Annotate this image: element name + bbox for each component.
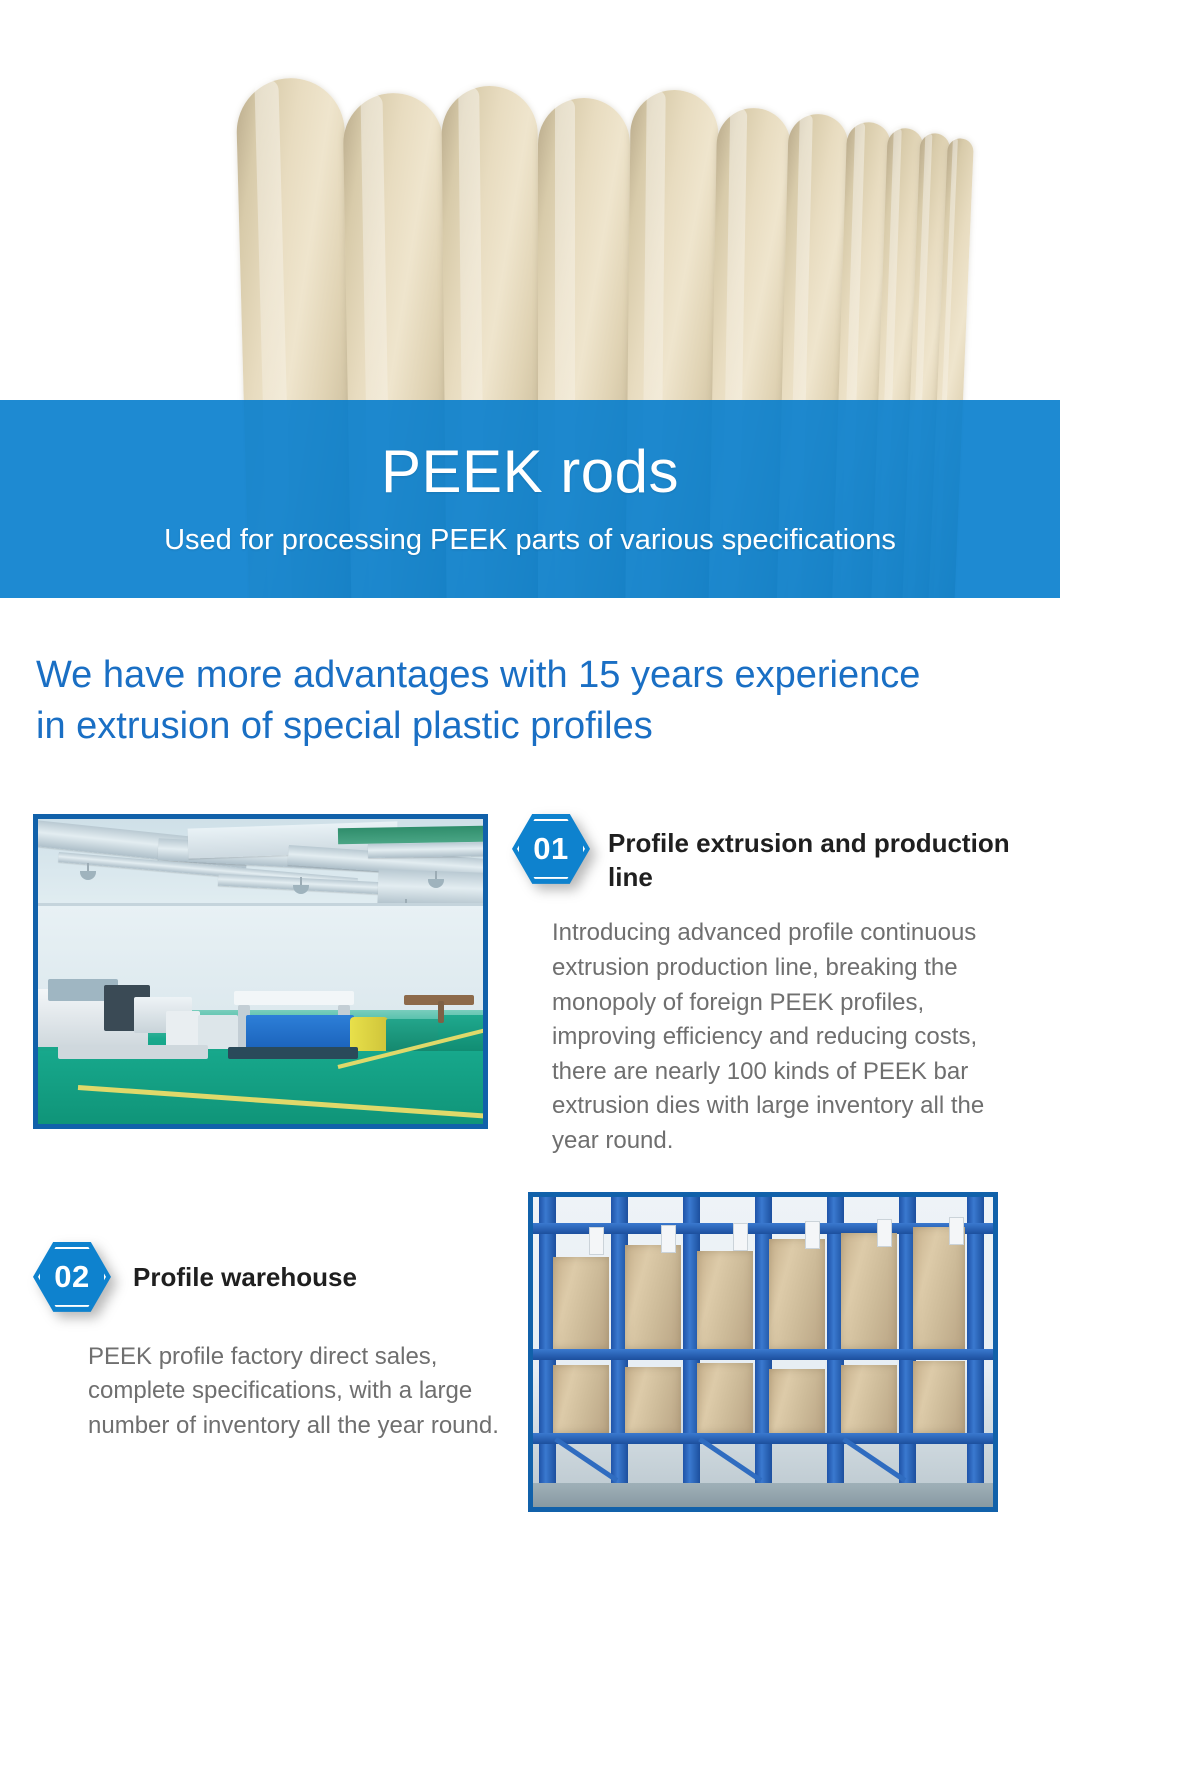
badge-label: 02 — [33, 1242, 111, 1312]
badge-label: 01 — [512, 814, 590, 884]
page-subtitle: Used for processing PEEK parts of variou… — [164, 523, 896, 558]
feature-01-content: 01 Profile extrusion and production line… — [512, 814, 1032, 1158]
headline-line-2: in extrusion of special plastic profiles — [36, 701, 1046, 752]
hero-title-band: PEEK rods Used for processing PEEK parts… — [0, 400, 1060, 598]
page-title: PEEK rods — [381, 440, 679, 503]
feature-01-body: Introducing advanced profile continuous … — [552, 916, 1032, 1158]
production-line-photo — [33, 814, 488, 1129]
hero-banner: PEEK rods Used for processing PEEK parts… — [0, 0, 1060, 598]
headline-line-1: We have more advantages with 15 years ex… — [36, 650, 1046, 701]
badge-number-01: 01 — [512, 814, 590, 884]
feature-01-title: Profile extrusion and production line — [608, 814, 1032, 895]
badge-number-02: 02 — [33, 1242, 111, 1312]
feature-section-02: 02 Profile warehouse PEEK profile factor… — [0, 1242, 1200, 1572]
feature-02-body: PEEK profile factory direct sales, compl… — [88, 1340, 518, 1444]
section-headline: We have more advantages with 15 years ex… — [36, 650, 1046, 752]
feature-02-title: Profile warehouse — [133, 1260, 357, 1294]
warehouse-photo — [528, 1192, 998, 1512]
feature-section-01: 01 Profile extrusion and production line… — [0, 814, 1200, 1134]
feature-02-content: 02 Profile warehouse PEEK profile factor… — [33, 1242, 513, 1444]
